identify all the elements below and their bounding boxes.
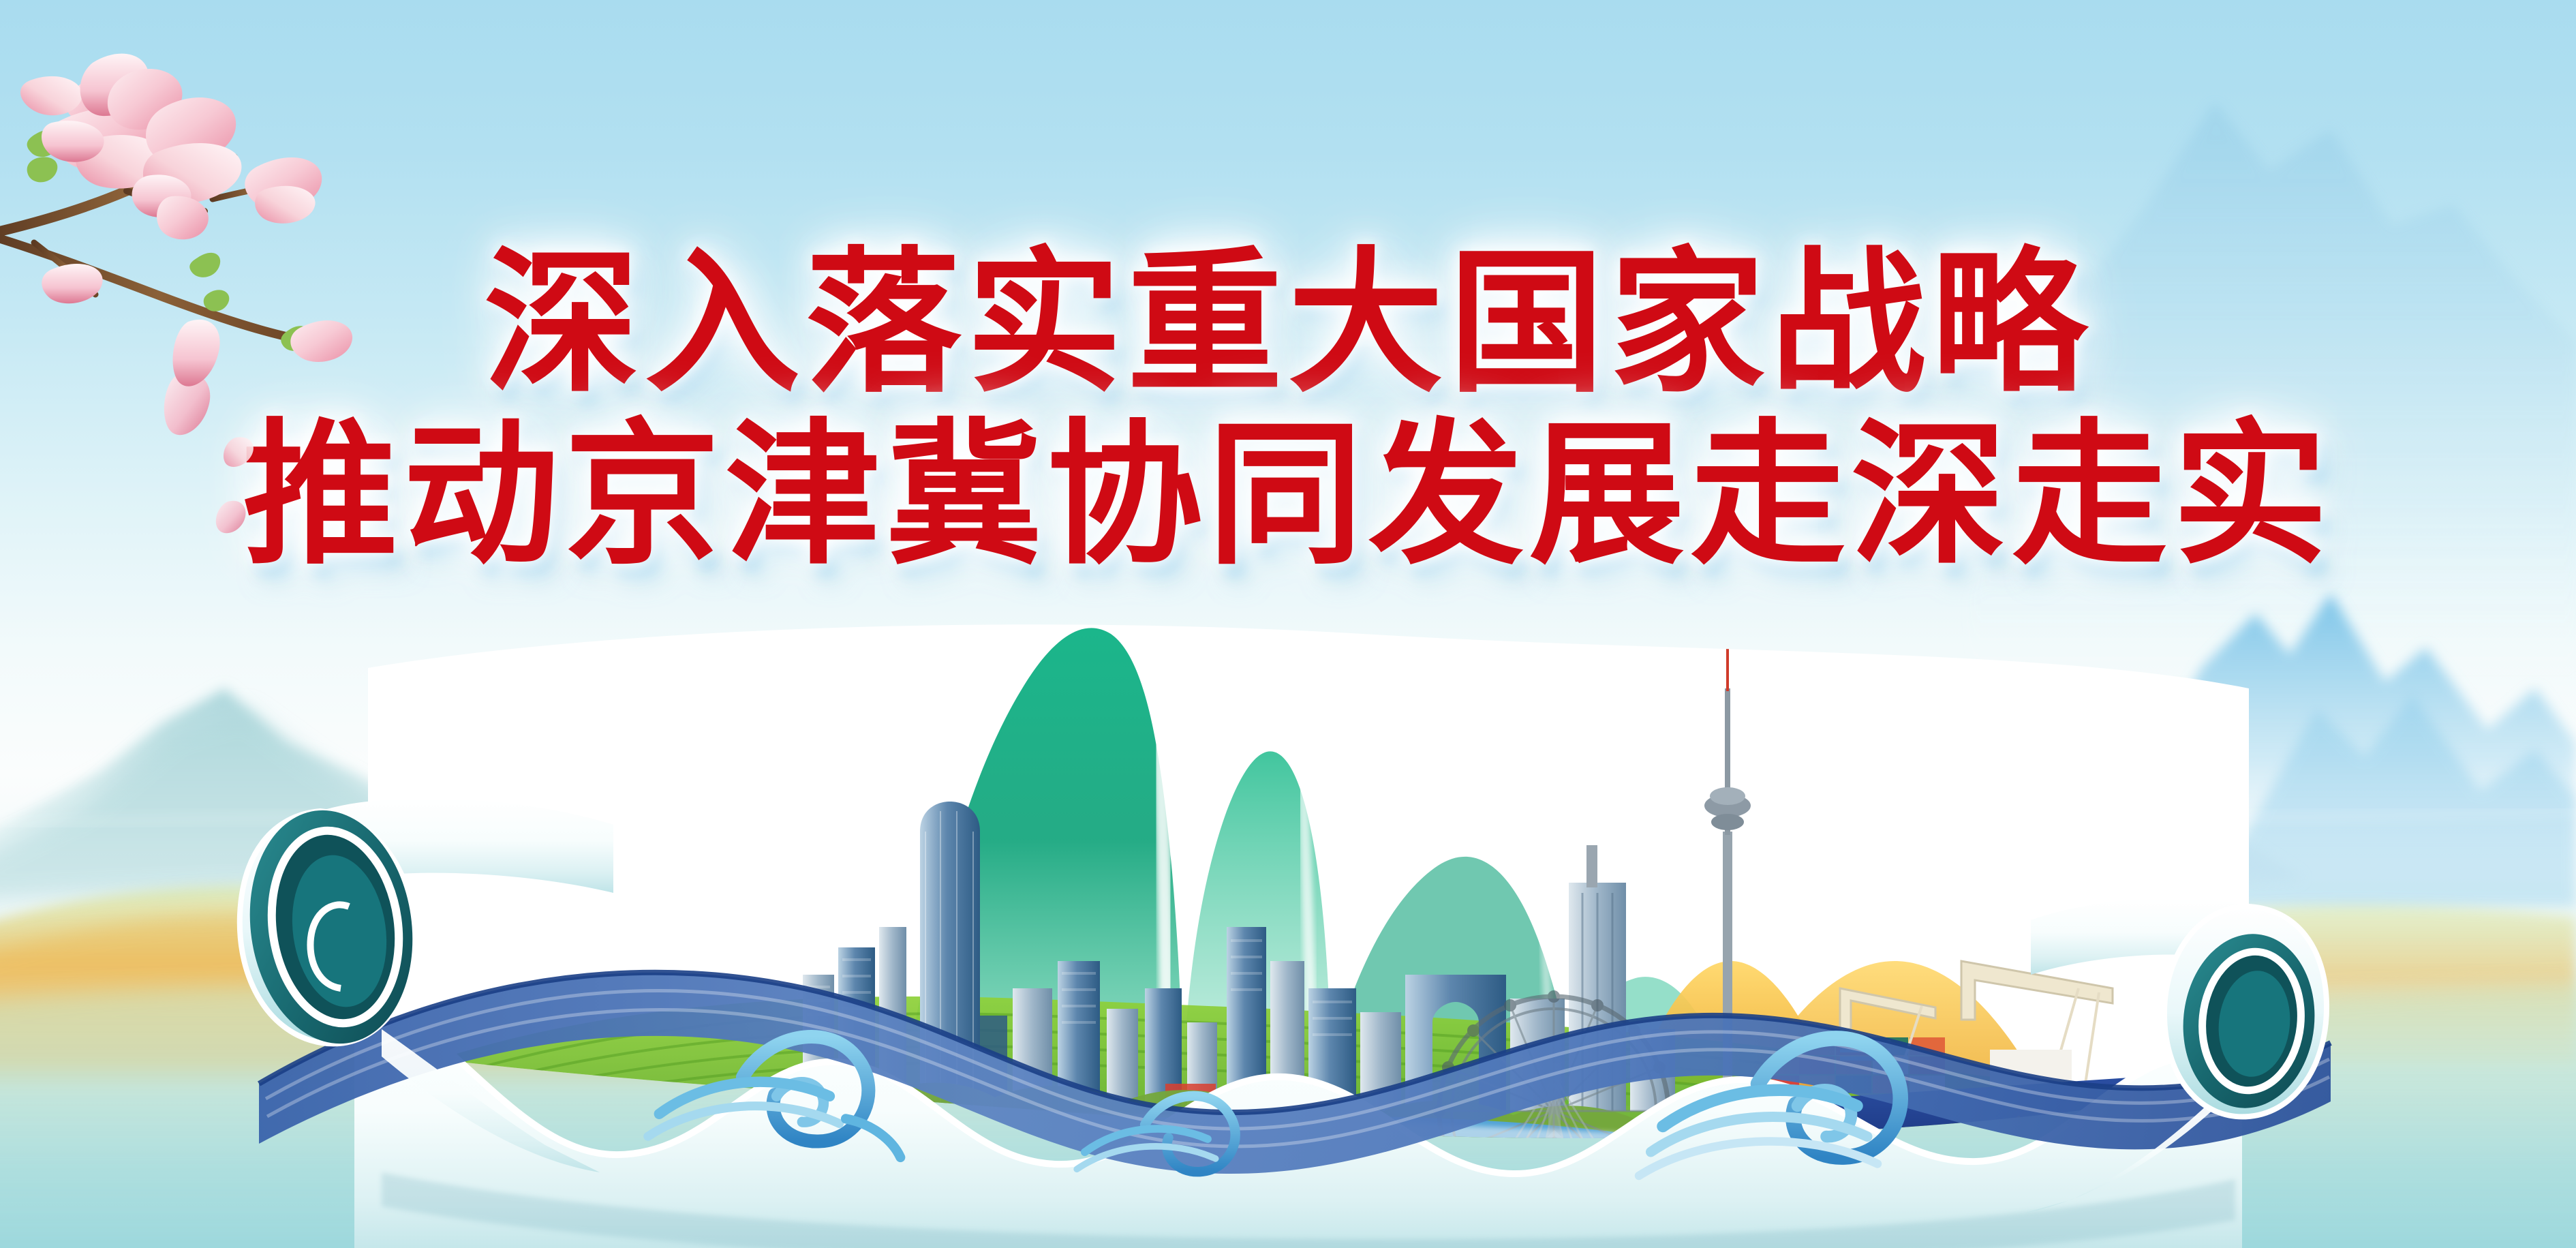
magnolia-flower-second <box>132 97 242 239</box>
scroll-illustration <box>0 607 2576 1248</box>
magnolia-flower-main <box>20 54 183 189</box>
title-line-2: 推动京津冀协同发展走深走实 <box>0 417 2576 573</box>
poster-canvas: 深入落实重大国家战略 推动京津冀协同发展走深走实 <box>0 0 2576 1248</box>
poster-title: 深入落实重大国家战略 推动京津冀协同发展走深走实 <box>0 245 2576 573</box>
magnolia-bud-right <box>245 157 322 224</box>
title-line-1: 深入落实重大国家战略 <box>0 245 2576 401</box>
